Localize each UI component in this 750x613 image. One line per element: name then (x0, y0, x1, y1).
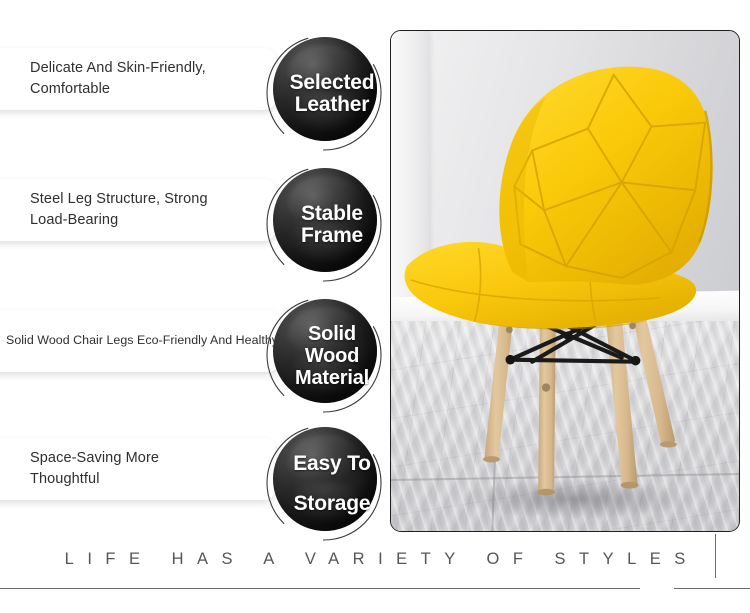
badge-label: Stable Frame (262, 161, 390, 289)
badge-label: Solid Wood Material (262, 292, 390, 420)
feature-badge-selected-leather: Selected Leather (262, 30, 390, 158)
footer-divider-gap (640, 587, 674, 591)
product-feature-banner: Delicate And Skin-Friendly, Comfortable … (0, 0, 750, 613)
feature-card-selected-leather: Delicate And Skin-Friendly, Comfortable (0, 48, 276, 110)
footer-tagline: LIFE HAS A VARIETY OF STYLES (0, 550, 750, 569)
feature-badge-easy-to-storage: Easy To Storage (262, 420, 390, 548)
feature-description: Space-Saving More Thoughtful (30, 448, 159, 489)
badge-label: Selected Leather (262, 30, 390, 158)
footer-vertical-tick (715, 534, 716, 578)
product-photo (390, 30, 740, 532)
feature-description: Steel Leg Structure, Strong Load-Bearing (30, 189, 208, 230)
feature-card-solid-wood-material: Solid Wood Chair Legs Eco-Friendly And H… (0, 310, 280, 372)
feature-badge-stable-frame: Stable Frame (262, 161, 390, 289)
feature-row: Steel Leg Structure, Strong Load-Bearing… (0, 161, 390, 291)
feature-description: Delicate And Skin-Friendly, Comfortable (30, 58, 206, 99)
feature-description: Solid Wood Chair Legs Eco-Friendly And H… (6, 332, 278, 350)
chair-backrest (499, 67, 712, 285)
chair-illustration (391, 31, 739, 531)
badge-label: Easy To Storage (262, 420, 390, 548)
feature-row: Solid Wood Chair Legs Eco-Friendly And H… (0, 292, 390, 422)
feature-list: Delicate And Skin-Friendly, Comfortable … (0, 30, 390, 530)
footer-divider (0, 588, 750, 589)
feature-badge-solid-wood-material: Solid Wood Material (262, 292, 390, 420)
feature-card-stable-frame: Steel Leg Structure, Strong Load-Bearing (0, 179, 276, 241)
feature-row: Delicate And Skin-Friendly, Comfortable … (0, 30, 390, 160)
feature-card-easy-to-storage: Space-Saving More Thoughtful (0, 438, 276, 500)
feature-row: Space-Saving More Thoughtful Easy To Sto… (0, 420, 390, 550)
yellow-chair (391, 31, 739, 531)
